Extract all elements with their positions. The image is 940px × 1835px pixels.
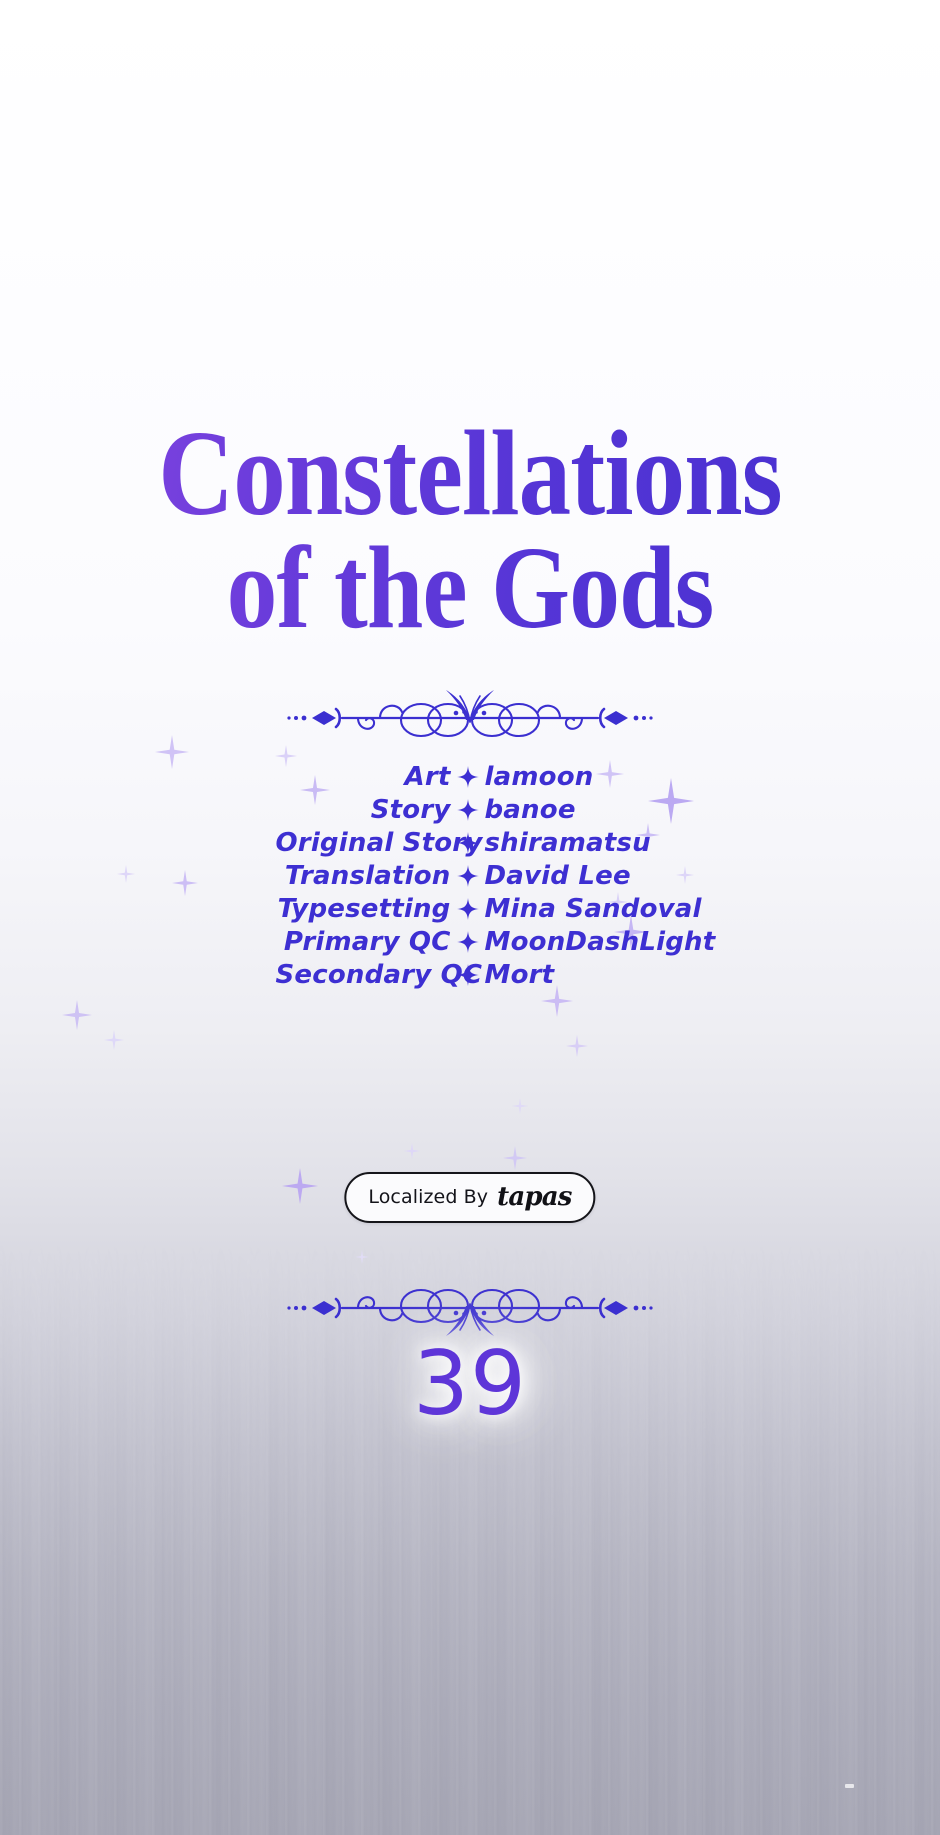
- four-point-star-sparkle-icon: [404, 1143, 420, 1159]
- diamond-sparkle-icon: [451, 799, 485, 821]
- credit-row: Secondary QC Mort: [276, 958, 665, 991]
- credit-role: Primary QC: [276, 927, 451, 957]
- episode-number: 39: [413, 1332, 527, 1435]
- diamond-sparkle-icon: [451, 832, 485, 854]
- credit-person: shiramatsu: [485, 828, 665, 858]
- diamond-sparkle-icon: [451, 931, 485, 953]
- credit-role: Typesetting: [276, 894, 451, 924]
- credit-row: Art lamoon: [276, 760, 665, 793]
- background-speck: [845, 1784, 854, 1788]
- page-title: Constellations of the Gods: [0, 414, 940, 645]
- diamond-sparkle-icon: [451, 898, 485, 920]
- title-line-2: of the Gods: [66, 530, 874, 646]
- episode-number-container: 39: [0, 1332, 940, 1435]
- diamond-sparkle-icon: [451, 865, 485, 887]
- credit-person: banoe: [485, 795, 665, 825]
- credits-list: Art lamoon Story banoe Original Story sh…: [0, 760, 940, 991]
- credit-person: Mort: [485, 960, 665, 990]
- four-point-star-sparkle-icon: [282, 1168, 318, 1204]
- four-point-star-sparkle-icon: [104, 1030, 124, 1050]
- localized-by-label: Localized By: [368, 1186, 488, 1208]
- title-line-1: Constellations: [66, 414, 874, 534]
- credit-row: Original Story shiramatsu: [276, 826, 665, 859]
- four-point-star-sparkle-icon: [503, 1146, 527, 1170]
- credit-person: David Lee: [485, 861, 665, 891]
- localized-by-tapas-badge[interactable]: Localized By tapas: [344, 1172, 595, 1223]
- diamond-sparkle-icon: [451, 964, 485, 986]
- credit-role: Translation: [276, 861, 451, 891]
- credit-row: Translation David Lee: [276, 859, 665, 892]
- credit-row: Story banoe: [276, 793, 665, 826]
- four-point-star-sparkle-icon: [566, 1035, 588, 1057]
- credit-role: Story: [276, 795, 451, 825]
- credit-role: Original Story: [276, 828, 451, 858]
- credit-person: lamoon: [485, 762, 665, 792]
- tapas-logo: tapas: [497, 1182, 572, 1212]
- credit-row: Typesetting Mina Sandoval: [276, 892, 665, 925]
- webtoon-title-card: Constellations of the Gods: [0, 0, 940, 1835]
- credit-role: Art: [276, 762, 451, 792]
- credit-row: Primary QC MoonDashLight: [276, 925, 665, 958]
- flourish-divider-icon: [280, 682, 660, 754]
- credit-person: MoonDashLight: [485, 927, 665, 957]
- four-point-star-sparkle-icon: [355, 1250, 369, 1264]
- four-point-star-sparkle-icon: [512, 1098, 528, 1114]
- diamond-sparkle-icon: [451, 766, 485, 788]
- four-point-star-sparkle-icon: [62, 1000, 92, 1030]
- credit-person: Mina Sandoval: [485, 894, 665, 924]
- credit-role: Secondary QC: [276, 960, 451, 990]
